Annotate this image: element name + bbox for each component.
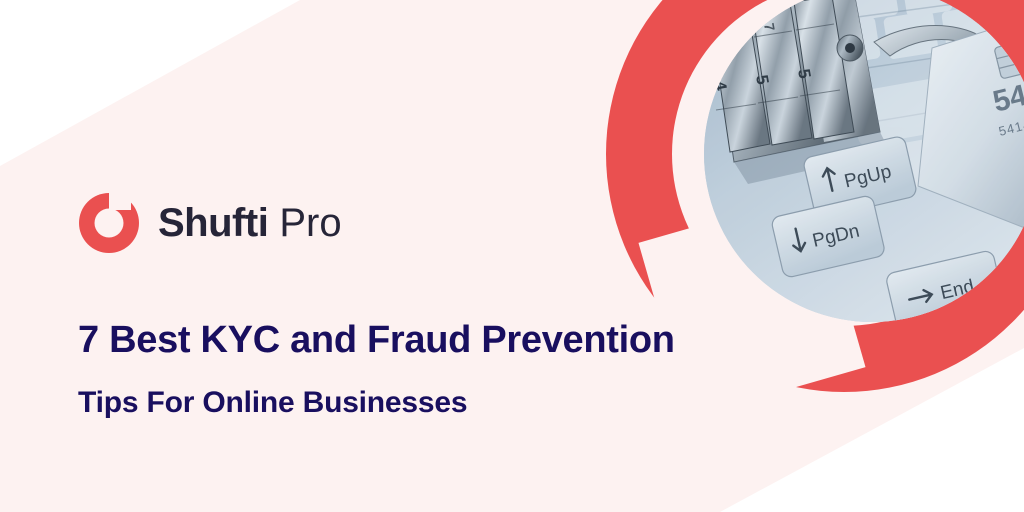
brand-word-pro: Pro bbox=[279, 203, 341, 243]
brand-wordmark: Shufti Pro bbox=[158, 203, 342, 243]
brand-word-shufti: Shufti bbox=[158, 203, 268, 243]
shufti-pro-ring-mark-icon bbox=[78, 192, 140, 254]
page-title: 7 Best KYC and Fraud Prevention Tips For… bbox=[78, 318, 675, 421]
blog-banner: 4 5 5 7 7 bbox=[0, 0, 1024, 512]
headline-line-2: Tips For Online Businesses bbox=[78, 385, 675, 421]
brand-logo[interactable]: Shufti Pro bbox=[78, 192, 342, 254]
headline-line-1: 7 Best KYC and Fraud Prevention bbox=[78, 318, 675, 363]
